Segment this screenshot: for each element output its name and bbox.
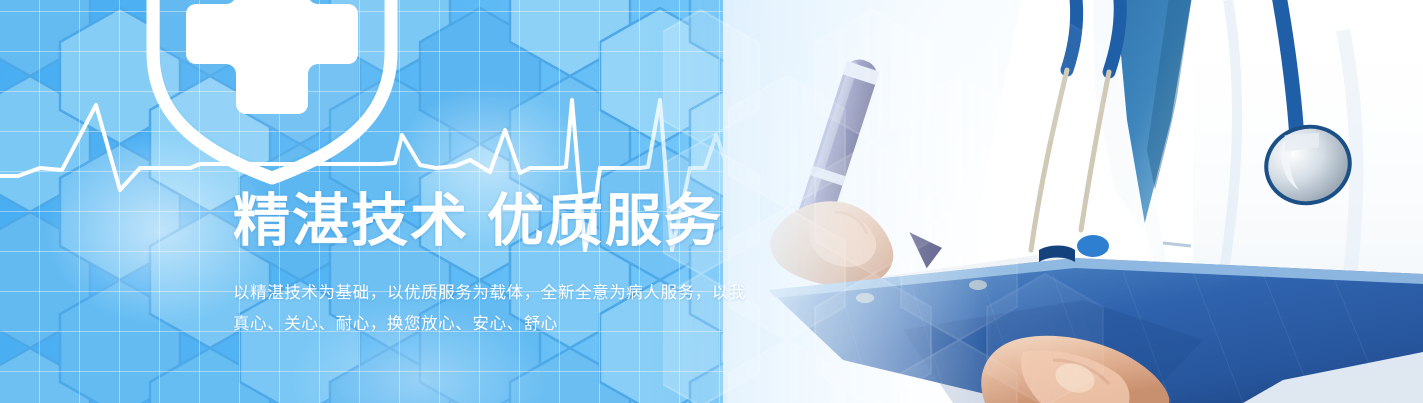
- banner-subtitle: 以精湛技术为基础，以优质服务为载体，全新全意为病人服务，以我 真心、关心、耐心，…: [233, 278, 873, 340]
- clipboard-clip: [1077, 235, 1109, 257]
- page-title: 精湛技术 优质服务: [233, 186, 873, 256]
- banner-copy: 精湛技术 优质服务 以精湛技术为基础，以优质服务为载体，全新全意为病人服务，以我…: [233, 186, 873, 340]
- subtitle-line-2: 真心、关心、耐心，换您放心、安心、舒心: [233, 309, 873, 340]
- medical-hero-banner: 精湛技术 优质服务 以精湛技术为基础，以优质服务为载体，全新全意为病人服务，以我…: [0, 0, 1423, 403]
- subtitle-line-1: 以精湛技术为基础，以优质服务为载体，全新全意为病人服务，以我: [233, 278, 873, 309]
